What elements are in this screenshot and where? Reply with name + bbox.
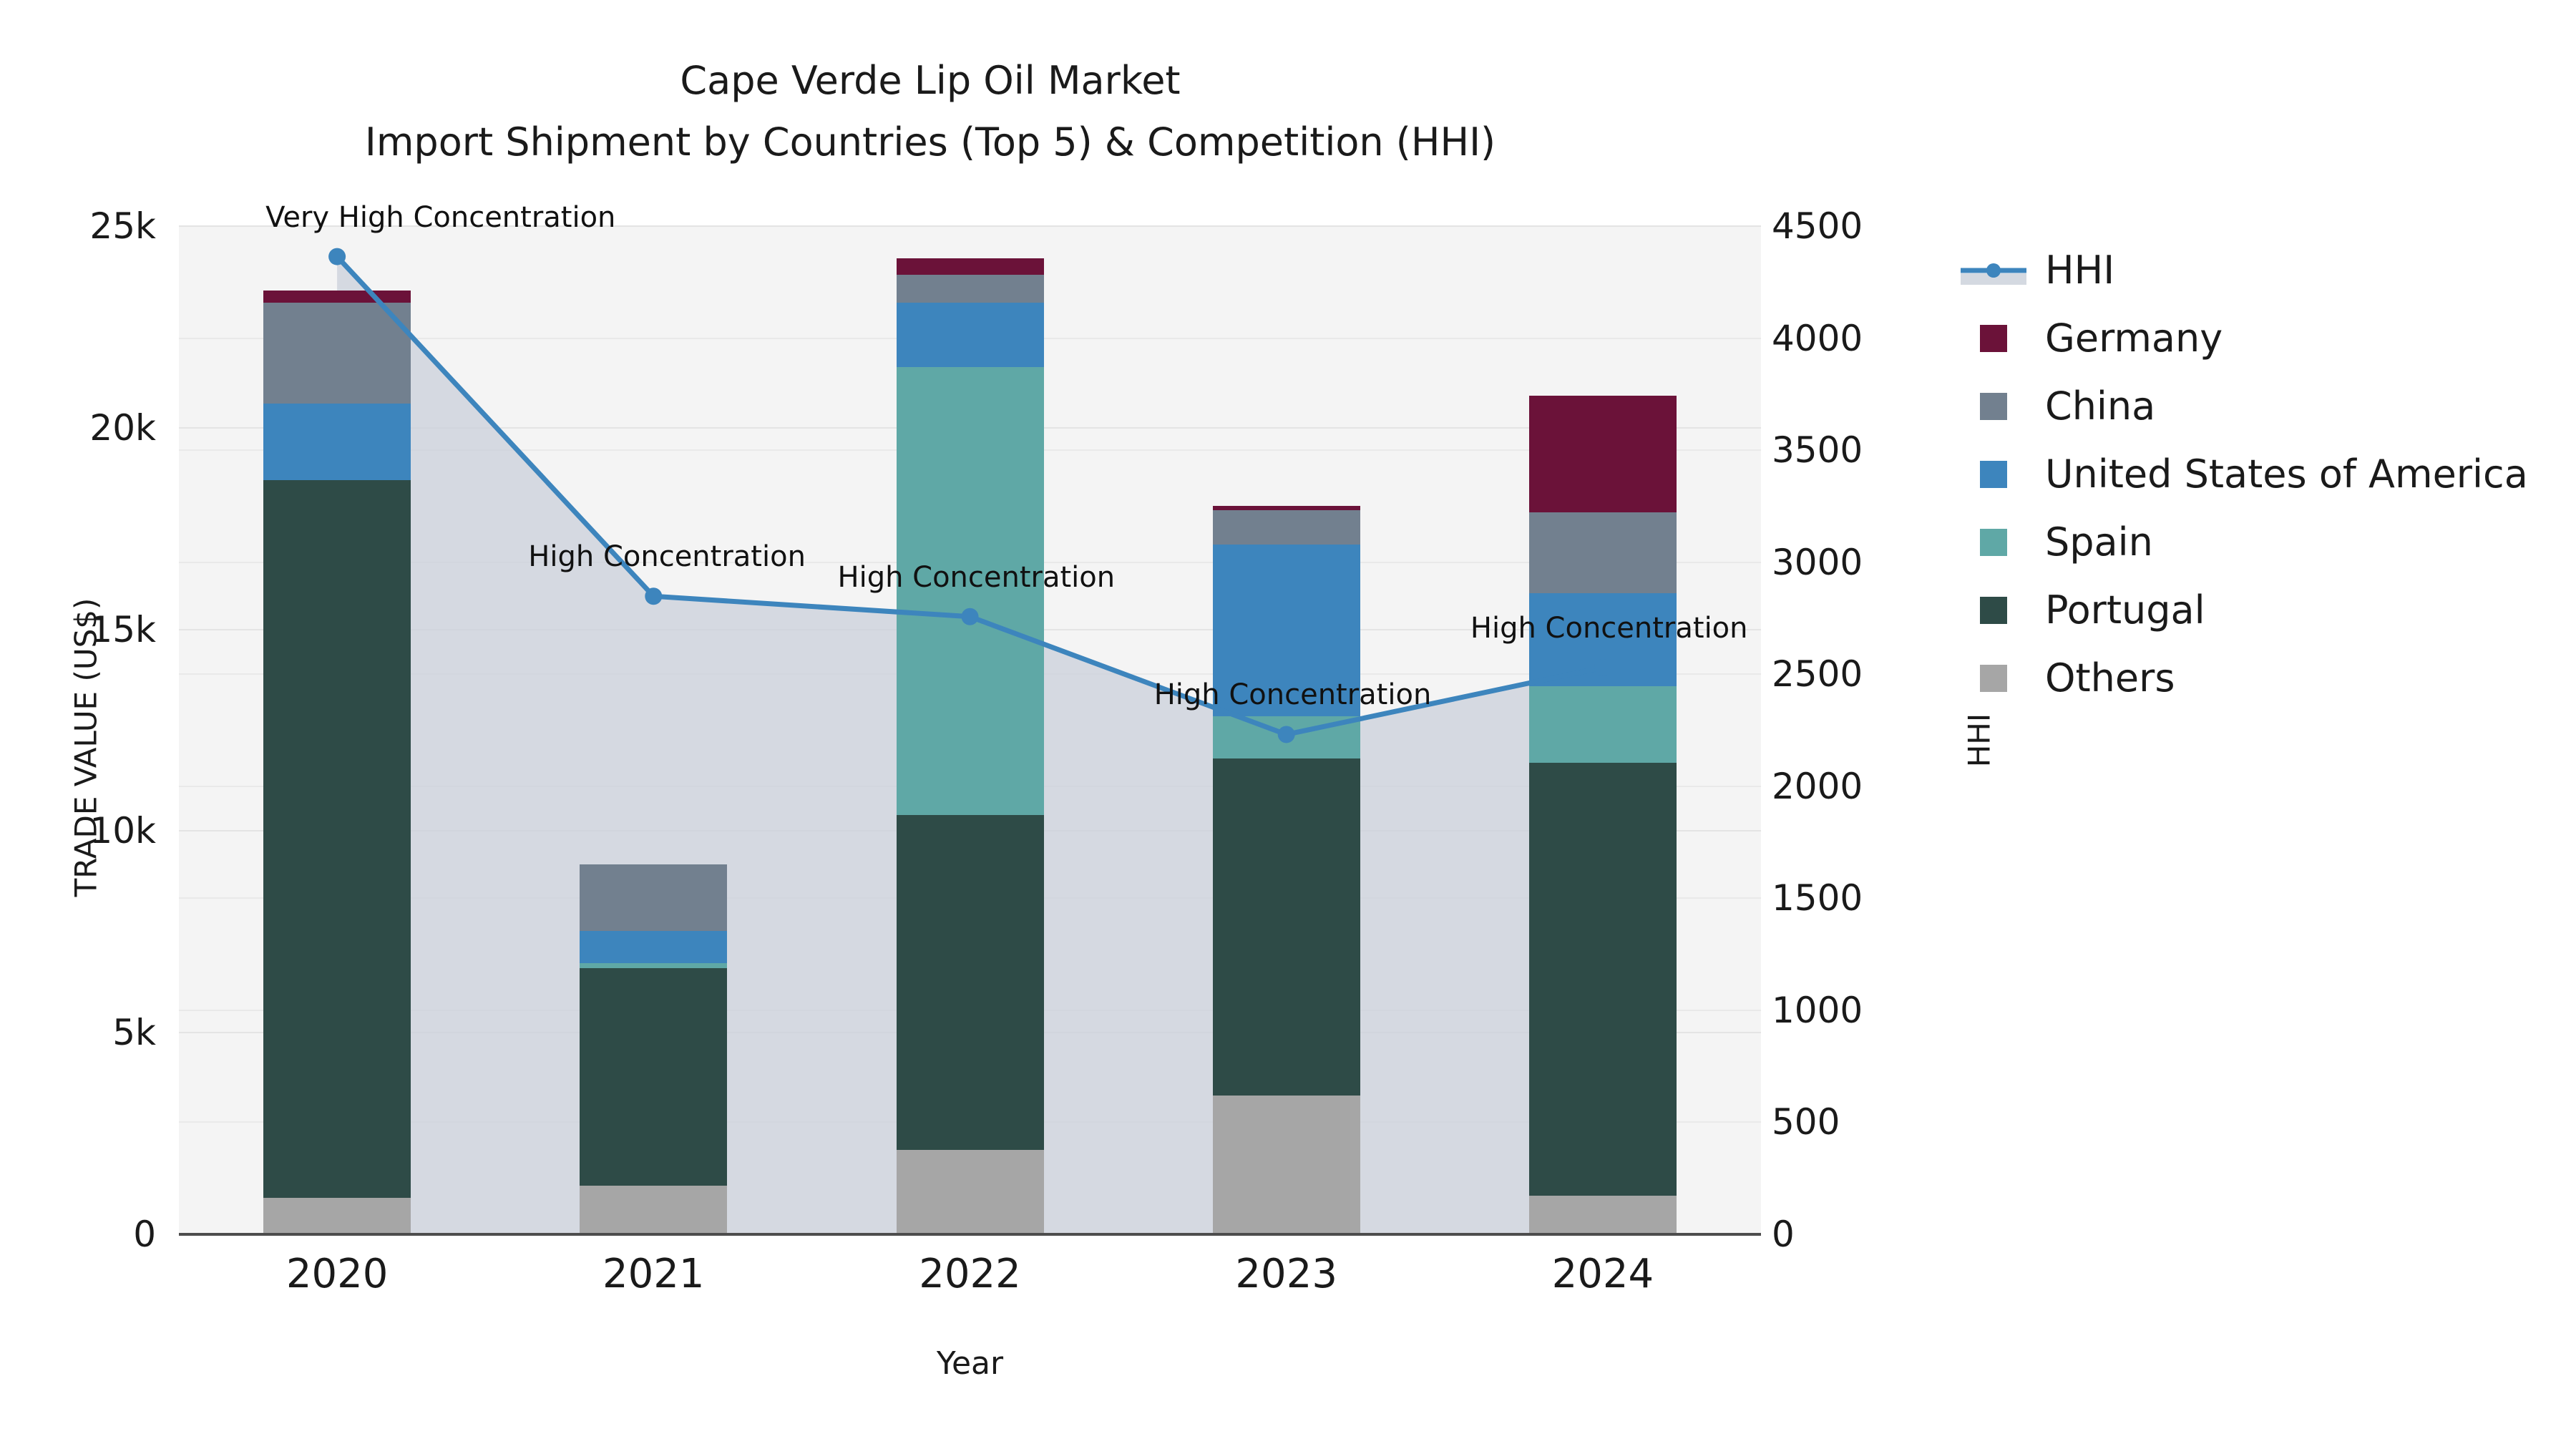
y-axis-left-tick-label: 25k	[89, 205, 156, 247]
legend-item-label: Germany	[2045, 316, 2223, 361]
chart-title: Cape Verde Lip Oil Market	[0, 56, 1860, 106]
y-axis-left-title: TRADE VALUE (US$)	[69, 597, 104, 898]
legend-color-swatch	[1980, 529, 2007, 556]
legend-swatch-icon	[1961, 461, 2026, 488]
legend-item[interactable]: Others	[1961, 644, 2528, 712]
y-axis-right-tick-label: 4500	[1772, 205, 1863, 247]
y-axis-right-tick-label: 1000	[1772, 990, 1863, 1031]
y-axis-left-tick-label: 0	[133, 1214, 156, 1255]
concentration-annotation: High Concentration	[1154, 678, 1432, 711]
legend-item[interactable]: United States of America	[1961, 440, 2528, 508]
legend-item[interactable]: Germany	[1961, 304, 2528, 372]
y-axis-right-tick-label: 2500	[1772, 653, 1863, 695]
hhi-data-point[interactable]	[645, 587, 662, 605]
x-axis-tick-label: 2021	[602, 1251, 705, 1297]
legend-color-swatch	[1980, 597, 2007, 624]
plot-area: Very High ConcentrationHigh Concentratio…	[179, 226, 1761, 1234]
legend-swatch-icon	[1961, 393, 2026, 420]
chart-subtitle: Import Shipment by Countries (Top 5) & C…	[0, 117, 1860, 167]
y-axis-right-tick-label: 1500	[1772, 877, 1863, 919]
chart-canvas: Cape Verde Lip Oil Market Import Shipmen…	[0, 0, 2576, 1449]
concentration-annotation: High Concentration	[528, 540, 806, 573]
legend-item[interactable]: Portugal	[1961, 576, 2528, 644]
legend-item-label: Spain	[2045, 519, 2153, 565]
x-axis-tick-label: 2024	[1552, 1251, 1654, 1297]
y-axis-right-tick-label: 4000	[1772, 318, 1863, 359]
x-axis-tick-label: 2022	[919, 1251, 1021, 1297]
hhi-data-point[interactable]	[1278, 726, 1295, 743]
legend-color-swatch	[1980, 461, 2007, 488]
y-axis-right-tick-label: 3500	[1772, 429, 1863, 471]
hhi-data-point[interactable]	[1594, 659, 1611, 676]
chart-title-block: Cape Verde Lip Oil Market Import Shipmen…	[0, 56, 1860, 167]
legend-line-icon	[1961, 255, 2026, 286]
y-axis-left-tick-label: 5k	[112, 1012, 156, 1053]
legend-color-swatch	[1980, 393, 2007, 420]
y-axis-right-tick-label: 3000	[1772, 542, 1863, 583]
legend: HHIGermanyChinaUnited States of AmericaS…	[1961, 236, 2528, 712]
hhi-line-series	[179, 226, 1761, 1234]
legend-swatch-icon	[1961, 597, 2026, 624]
legend-item[interactable]: China	[1961, 372, 2528, 440]
legend-item-label: Others	[2045, 655, 2175, 701]
legend-item-label: China	[2045, 384, 2155, 429]
concentration-annotation: High Concentration	[838, 561, 1116, 594]
legend-item-label: Portugal	[2045, 587, 2205, 633]
legend-color-swatch	[1980, 665, 2007, 692]
x-axis-tick-label: 2020	[286, 1251, 389, 1297]
y-axis-left-tick-label: 20k	[89, 407, 156, 449]
legend-swatch-icon	[1961, 529, 2026, 556]
hhi-data-point[interactable]	[962, 608, 979, 625]
y-axis-right-tick-label: 0	[1772, 1214, 1795, 1255]
legend-color-swatch	[1980, 325, 2007, 352]
x-axis-ticks: 20202021202220232024	[179, 1251, 1761, 1308]
y-axis-right-ticks: 050010001500200025003000350040004500	[1772, 226, 1958, 1234]
legend-item-label: United States of America	[2045, 452, 2528, 497]
y-axis-right-tick-label: 500	[1772, 1101, 1840, 1143]
concentration-annotation: High Concentration	[1470, 612, 1748, 645]
legend-swatch-icon	[1961, 325, 2026, 352]
x-axis-line	[179, 1233, 1761, 1236]
hhi-line-path	[337, 257, 1603, 735]
legend-item[interactable]: HHI	[1961, 236, 2528, 304]
legend-item[interactable]: Spain	[1961, 508, 2528, 576]
x-axis-tick-label: 2023	[1235, 1251, 1337, 1297]
legend-swatch-icon	[1961, 665, 2026, 692]
legend-item-label: HHI	[2045, 248, 2114, 293]
y-axis-right-tick-label: 2000	[1772, 766, 1863, 807]
x-axis-title: Year	[179, 1345, 1761, 1382]
hhi-data-point[interactable]	[328, 248, 346, 265]
concentration-annotation: Very High Concentration	[265, 201, 615, 234]
